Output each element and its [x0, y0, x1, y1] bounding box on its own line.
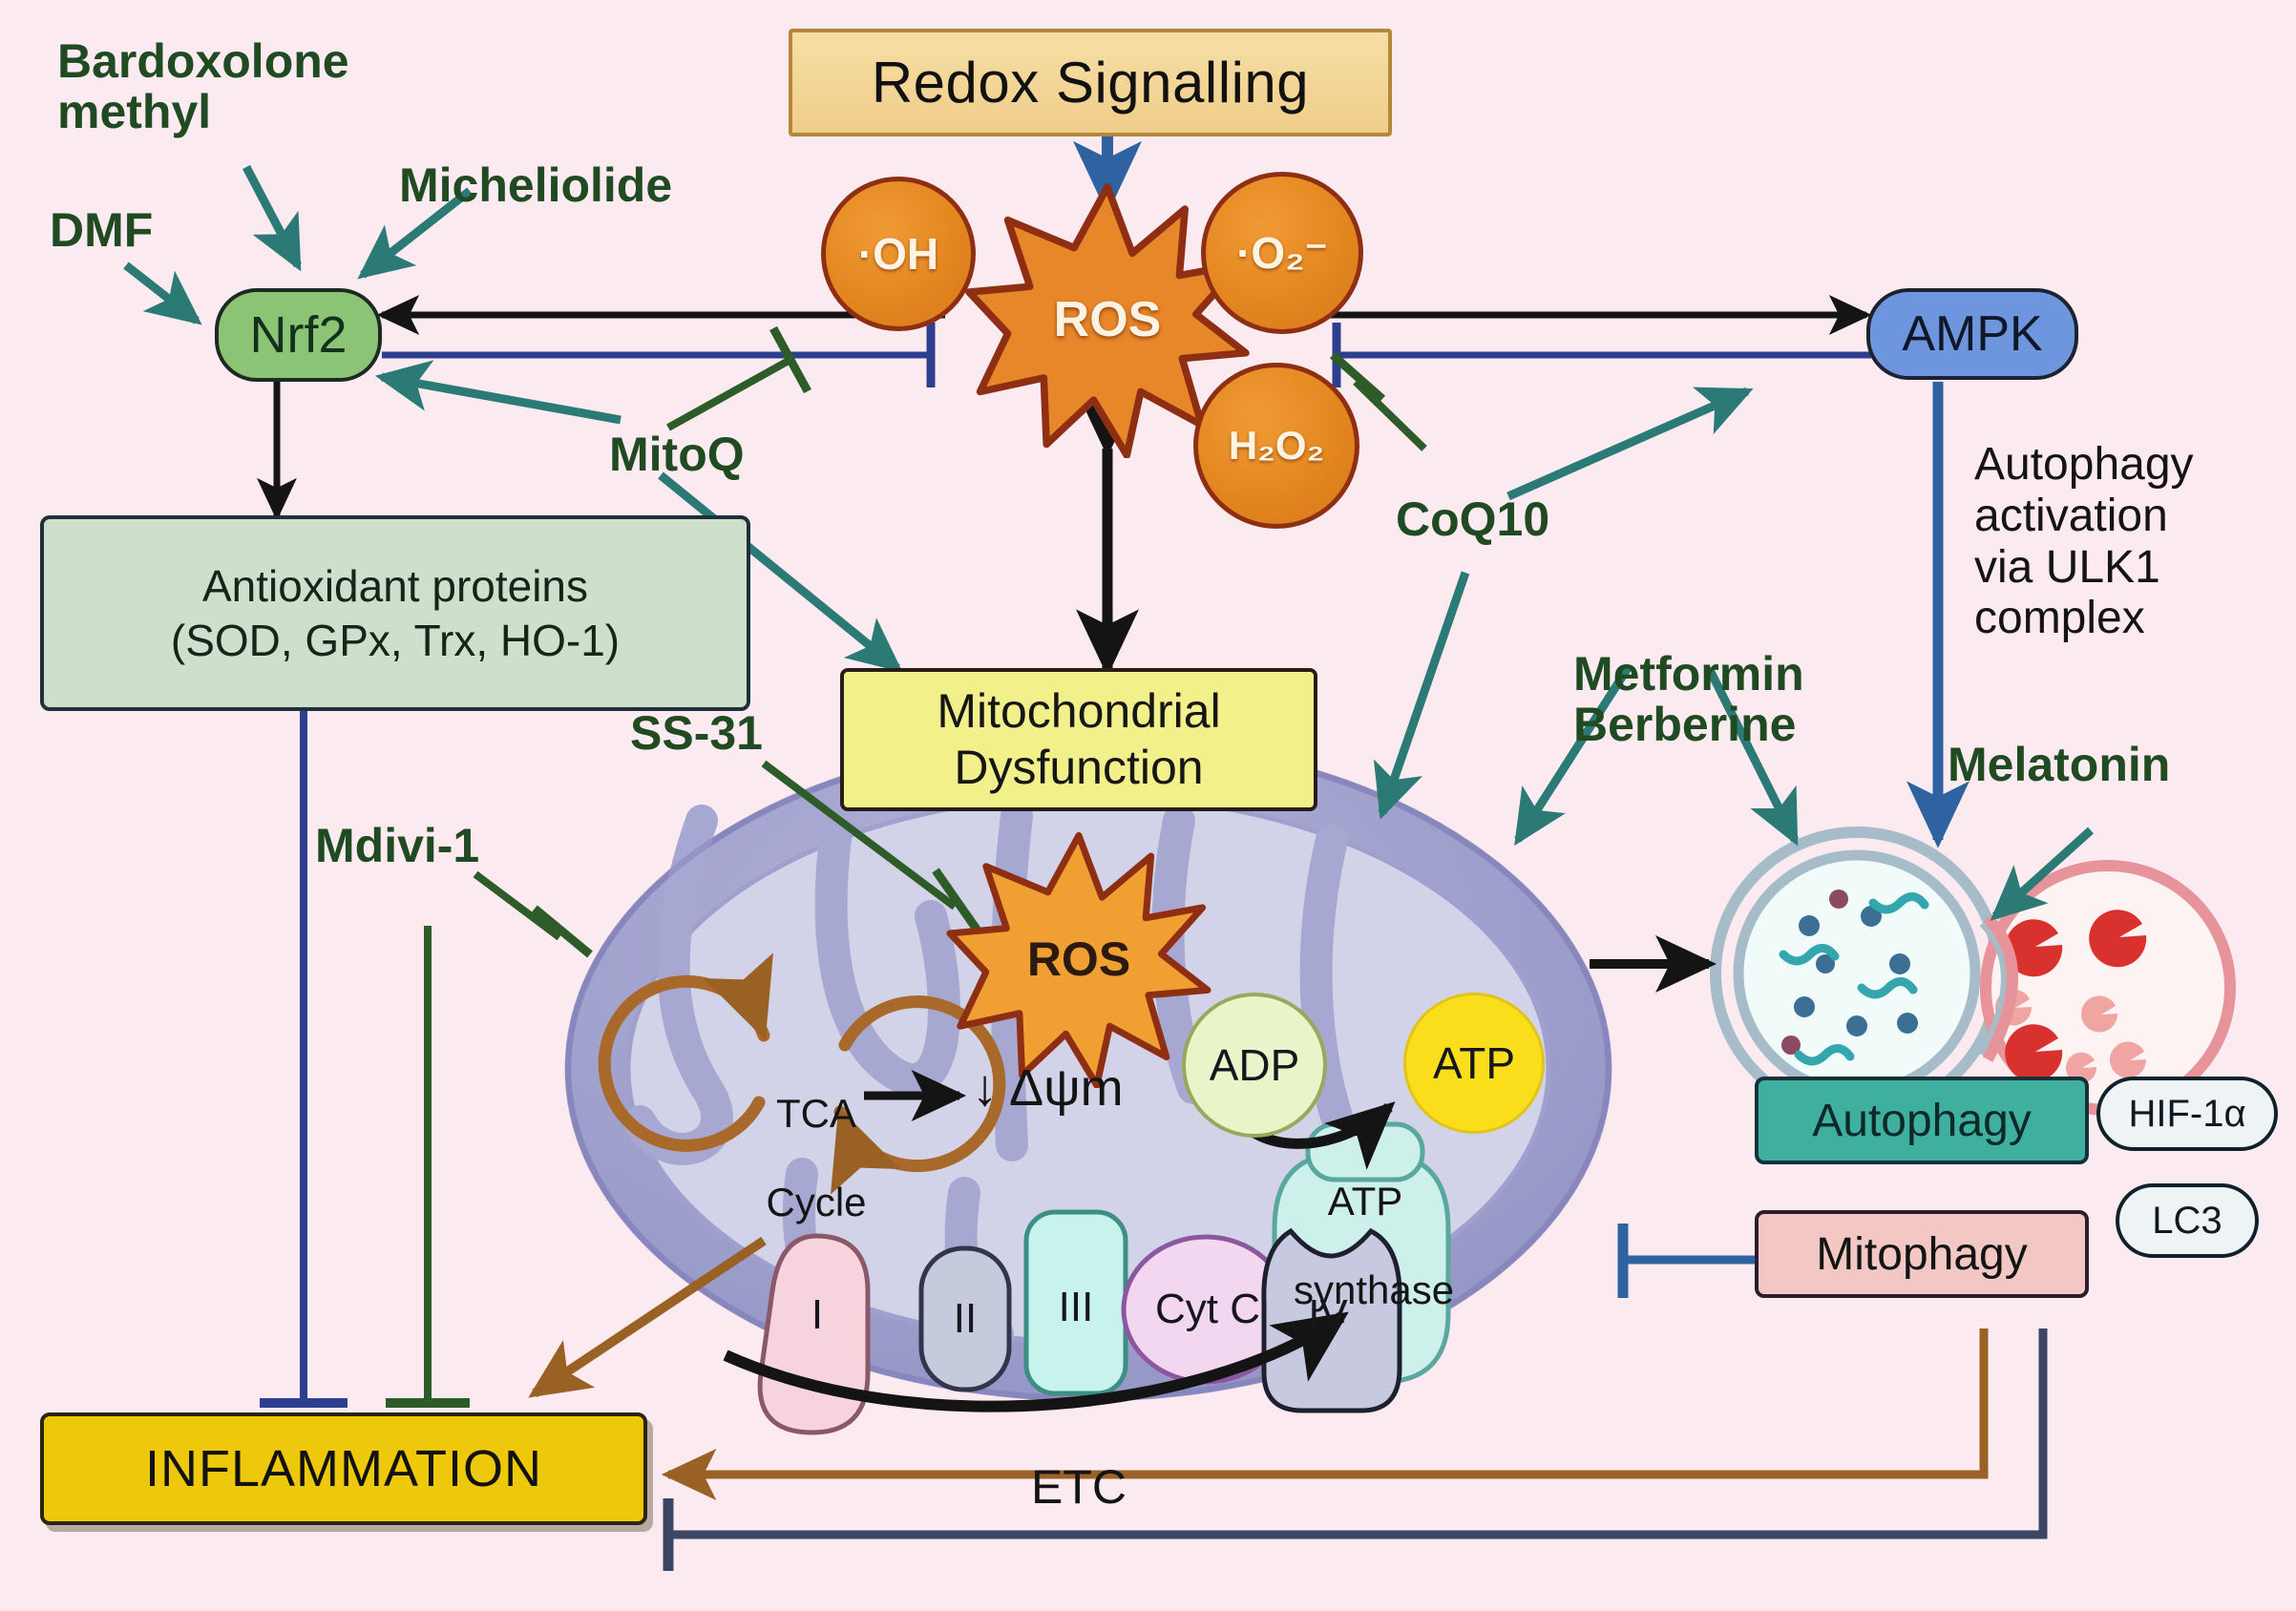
redox-signalling-box[interactable]: Redox Signalling: [789, 29, 1392, 136]
hif1a-label: HIF-1α: [2128, 1093, 2245, 1136]
autophagy-activation-annotation: Autophagy activation via ULK1 complex: [1974, 439, 2194, 644]
drug-coq10: CoQ10: [1396, 494, 1549, 545]
dmf-to-nrf2-arrow: [126, 265, 197, 321]
complex-ii-text: II: [954, 1295, 977, 1343]
pathway-diagram-canvas: ROS ROS ·OH ·O₂⁻ H₂O₂ Redox Signalling N…: [0, 0, 2296, 1611]
hydroxyl-radical-label: ·OH: [858, 228, 938, 280]
mitophagy-box[interactable]: Mitophagy: [1755, 1210, 2089, 1298]
hif1a-marker[interactable]: HIF-1α: [2096, 1077, 2278, 1151]
drug-micheliolide: Micheliolide: [399, 160, 672, 211]
superoxide-radical-label: ·O₂⁻: [1236, 227, 1328, 279]
bardoxolone-to-nrf2-arrow: [246, 167, 298, 265]
complex-ii-label: II: [937, 1290, 994, 1348]
lc3-marker[interactable]: LC3: [2116, 1183, 2259, 1258]
complex-iii-label: III: [1047, 1279, 1105, 1336]
complex-iv-text: IV: [1308, 1291, 1348, 1339]
mitophagy-label: Mitophagy: [1816, 1228, 2027, 1281]
ampk-label: AMPK: [1902, 305, 2042, 363]
complex-iv-label: IV: [1294, 1287, 1362, 1344]
drug-mitoq: MitoQ: [609, 429, 745, 480]
drug-ss-31: SS-31: [630, 708, 763, 759]
drug-mdivi-1: Mdivi-1: [315, 821, 479, 871]
tca-cycle-line1: TCA: [776, 1091, 856, 1136]
redox-signalling-label: Redox Signalling: [872, 50, 1309, 115]
antioxidant-proteins-box[interactable]: Antioxidant proteins (SOD, GPx, Trx, HO-…: [40, 515, 750, 711]
drug-dmf: DMF: [50, 205, 153, 256]
etc-annotation: ETC: [1031, 1460, 1127, 1514]
membrane-potential-label: ↓ Δψm: [972, 1059, 1124, 1117]
mitochondrial-dysfunction-line1: Mitochondrial: [937, 683, 1220, 740]
adp-label: ADP: [1210, 1039, 1300, 1091]
mitochondrial-dysfunction-box[interactable]: Mitochondrial Dysfunction: [840, 668, 1317, 811]
nrf2-node[interactable]: Nrf2: [215, 288, 382, 382]
atp-synthase-line1: ATP: [1328, 1179, 1403, 1224]
mitoq-to-nrf2-arrow: [382, 377, 621, 420]
mdivi1-inhibits-mitochondrion-line: [475, 874, 559, 937]
mdivi1-inhibits-mitochondrion-bar: [535, 909, 590, 954]
ampk-node[interactable]: AMPK: [1866, 288, 2078, 380]
adp-node: ADP: [1182, 993, 1327, 1138]
complex-i-label: I: [789, 1287, 846, 1344]
mitoq-inhibits-ros-bar: [773, 328, 808, 391]
coq10-to-mitochondrion-arrow: [1382, 573, 1465, 813]
autophagosome-illustration: [1716, 832, 1998, 1115]
cytochrome-c-label: Cyt C: [1136, 1281, 1279, 1338]
complex-i-text: I: [811, 1291, 823, 1339]
tca-cycle-label: TCA Cycle: [754, 1048, 878, 1224]
drug-metformin-berberine: Metformin Berberine: [1573, 649, 1804, 750]
complex-iii-text: III: [1059, 1284, 1094, 1331]
mitochondrion-to-inflammation-arrow: [535, 1241, 764, 1393]
hydrogen-peroxide-icon: H₂O₂: [1193, 363, 1359, 529]
autophagy-label: Autophagy: [1812, 1095, 2032, 1147]
antioxidant-proteins-line2: (SOD, GPx, Trx, HO-1): [171, 614, 620, 667]
tca-cycle-line2: Cycle: [766, 1180, 866, 1224]
nrf2-label: Nrf2: [249, 305, 347, 365]
coq10-inhibits-h2o2-line: [1356, 382, 1424, 449]
cytochrome-c-text: Cyt C: [1155, 1286, 1260, 1333]
ros-burst-mitochondrial: ROS: [936, 830, 1222, 1088]
coq10-to-ampk-arrow: [1508, 391, 1747, 496]
hydroxyl-radical-icon: ·OH: [821, 177, 976, 331]
mitochondrial-dysfunction-line2: Dysfunction: [954, 740, 1203, 796]
antioxidant-proteins-line1: Antioxidant proteins: [202, 559, 588, 613]
autolysosome-illustration: [1984, 866, 2230, 1110]
drug-bardoxolone-methyl: Bardoxolone methyl: [57, 36, 349, 137]
atp-node: ATP: [1403, 993, 1545, 1134]
superoxide-radical-icon: ·O₂⁻: [1201, 172, 1363, 334]
atp-label: ATP: [1433, 1037, 1515, 1089]
hydrogen-peroxide-label: H₂O₂: [1229, 423, 1324, 469]
inflammation-label: INFLAMMATION: [145, 1439, 542, 1498]
lc3-label: LC3: [2152, 1200, 2222, 1243]
inflammation-box[interactable]: INFLAMMATION: [40, 1412, 647, 1525]
mitoq-inhibits-ros-line: [668, 361, 789, 428]
drug-melatonin: Melatonin: [1948, 740, 2170, 790]
autophagy-box[interactable]: Autophagy: [1755, 1077, 2089, 1164]
